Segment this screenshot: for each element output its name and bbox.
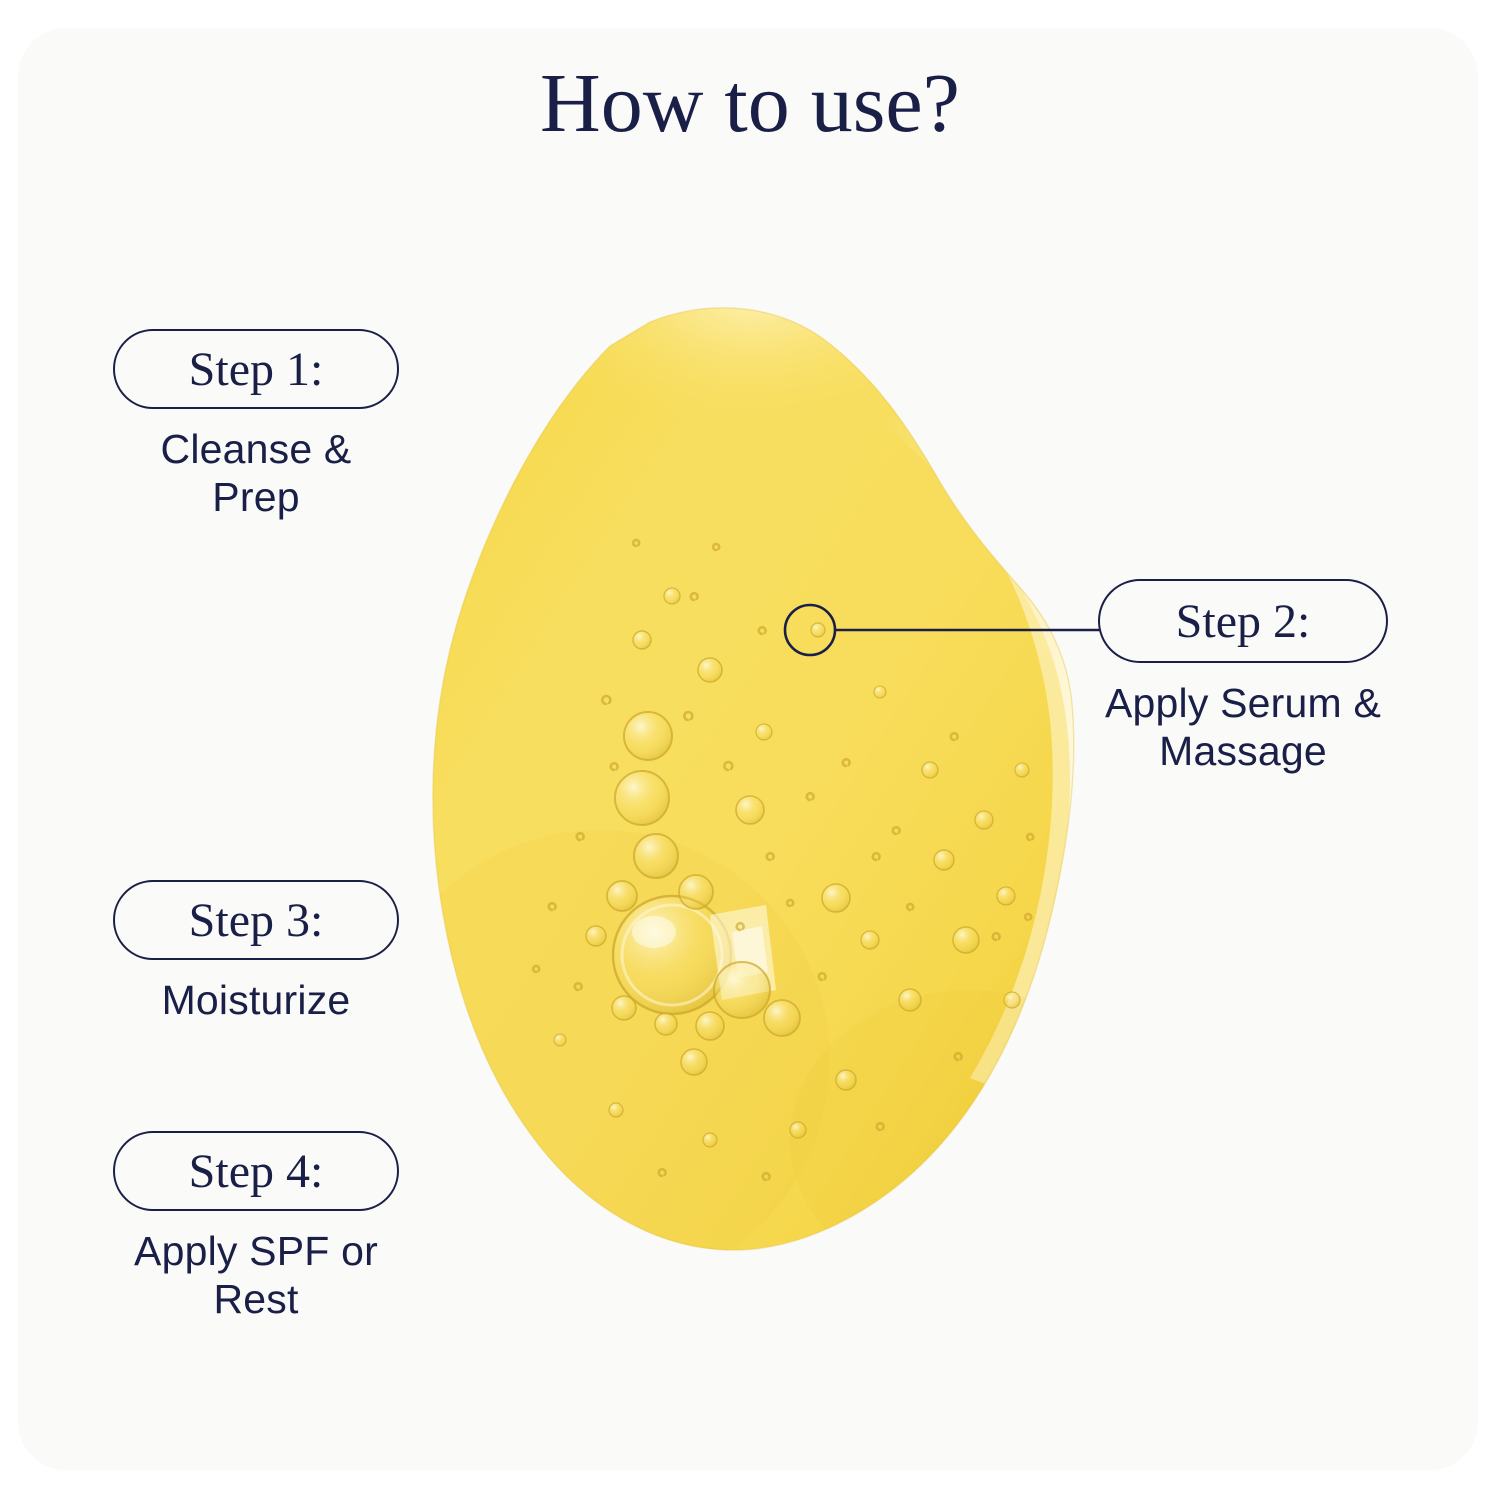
step-3-caption: Moisturize <box>113 976 399 1024</box>
callout-circle-marker <box>785 605 835 655</box>
step-3-badge[interactable]: Step 3: <box>113 880 399 960</box>
page-title: How to use? <box>0 62 1500 146</box>
step2-leader-line <box>700 540 1160 720</box>
step-4-badge[interactable]: Step 4: <box>113 1131 399 1211</box>
oil-droplet-illustration <box>410 300 1110 1280</box>
step-1-block: Step 1: Cleanse & Prep <box>113 329 399 522</box>
droplet-body <box>370 275 1150 1290</box>
step-2-block: Step 2: Apply Serum & Massage <box>1098 579 1388 776</box>
infographic-canvas: How to use? <box>0 0 1500 1500</box>
step-2-caption: Apply Serum & Massage <box>1098 679 1388 776</box>
step-4-caption: Apply SPF or Rest <box>113 1227 399 1324</box>
step-4-block: Step 4: Apply SPF or Rest <box>113 1131 399 1324</box>
step-1-badge[interactable]: Step 1: <box>113 329 399 409</box>
step-2-badge[interactable]: Step 2: <box>1098 579 1388 663</box>
step-3-block: Step 3: Moisturize <box>113 880 399 1024</box>
step-1-caption: Cleanse & Prep <box>113 425 399 522</box>
